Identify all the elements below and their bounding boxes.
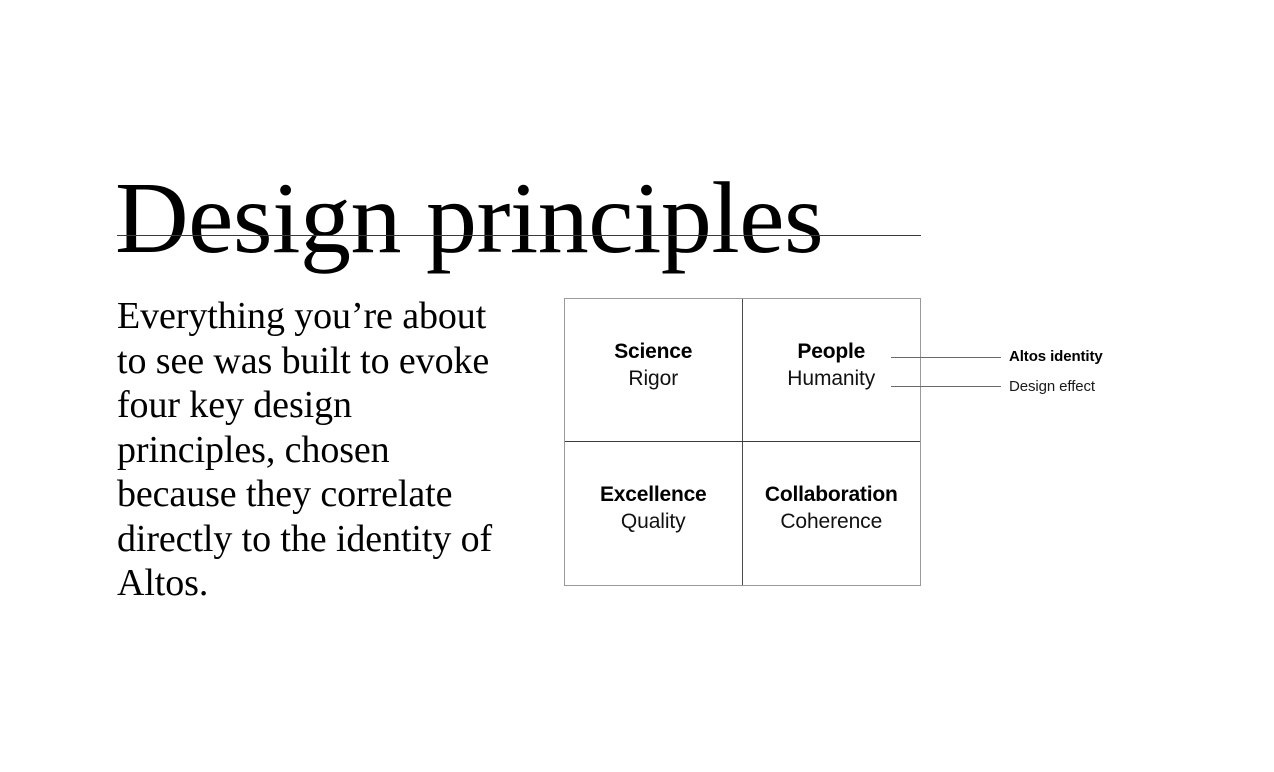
quadrant-identity-label: Excellence	[600, 481, 707, 508]
quadrant-science: Science Rigor	[565, 299, 743, 442]
quadrant-effect-label: Quality	[621, 508, 686, 536]
title-divider-rule	[117, 235, 921, 236]
quadrant-effect-label: Coherence	[780, 508, 882, 536]
leader-line-altos-identity	[891, 357, 1001, 358]
page-title: Design principles	[115, 164, 823, 274]
quadrant-collaboration: Collaboration Coherence	[743, 442, 921, 585]
quadrant-identity-label: People	[797, 338, 865, 365]
quadrant-excellence: Excellence Quality	[565, 442, 743, 585]
design-principles-matrix: Science Rigor People Humanity Excellence…	[564, 298, 921, 586]
quadrant-identity-label: Science	[614, 338, 692, 365]
legend-label-altos-identity: Altos identity	[1009, 348, 1103, 365]
quadrant-people: People Humanity	[743, 299, 921, 442]
legend-label-design-effect: Design effect	[1009, 378, 1095, 395]
quadrant-effect-label: Humanity	[787, 365, 875, 393]
leader-line-design-effect	[891, 386, 1001, 387]
slide-canvas: Design principles Everything you’re abou…	[0, 0, 1274, 772]
quadrant-identity-label: Collaboration	[765, 481, 898, 508]
intro-paragraph: Everything you’re about to see was built…	[117, 294, 517, 606]
quadrant-effect-label: Rigor	[628, 365, 678, 393]
